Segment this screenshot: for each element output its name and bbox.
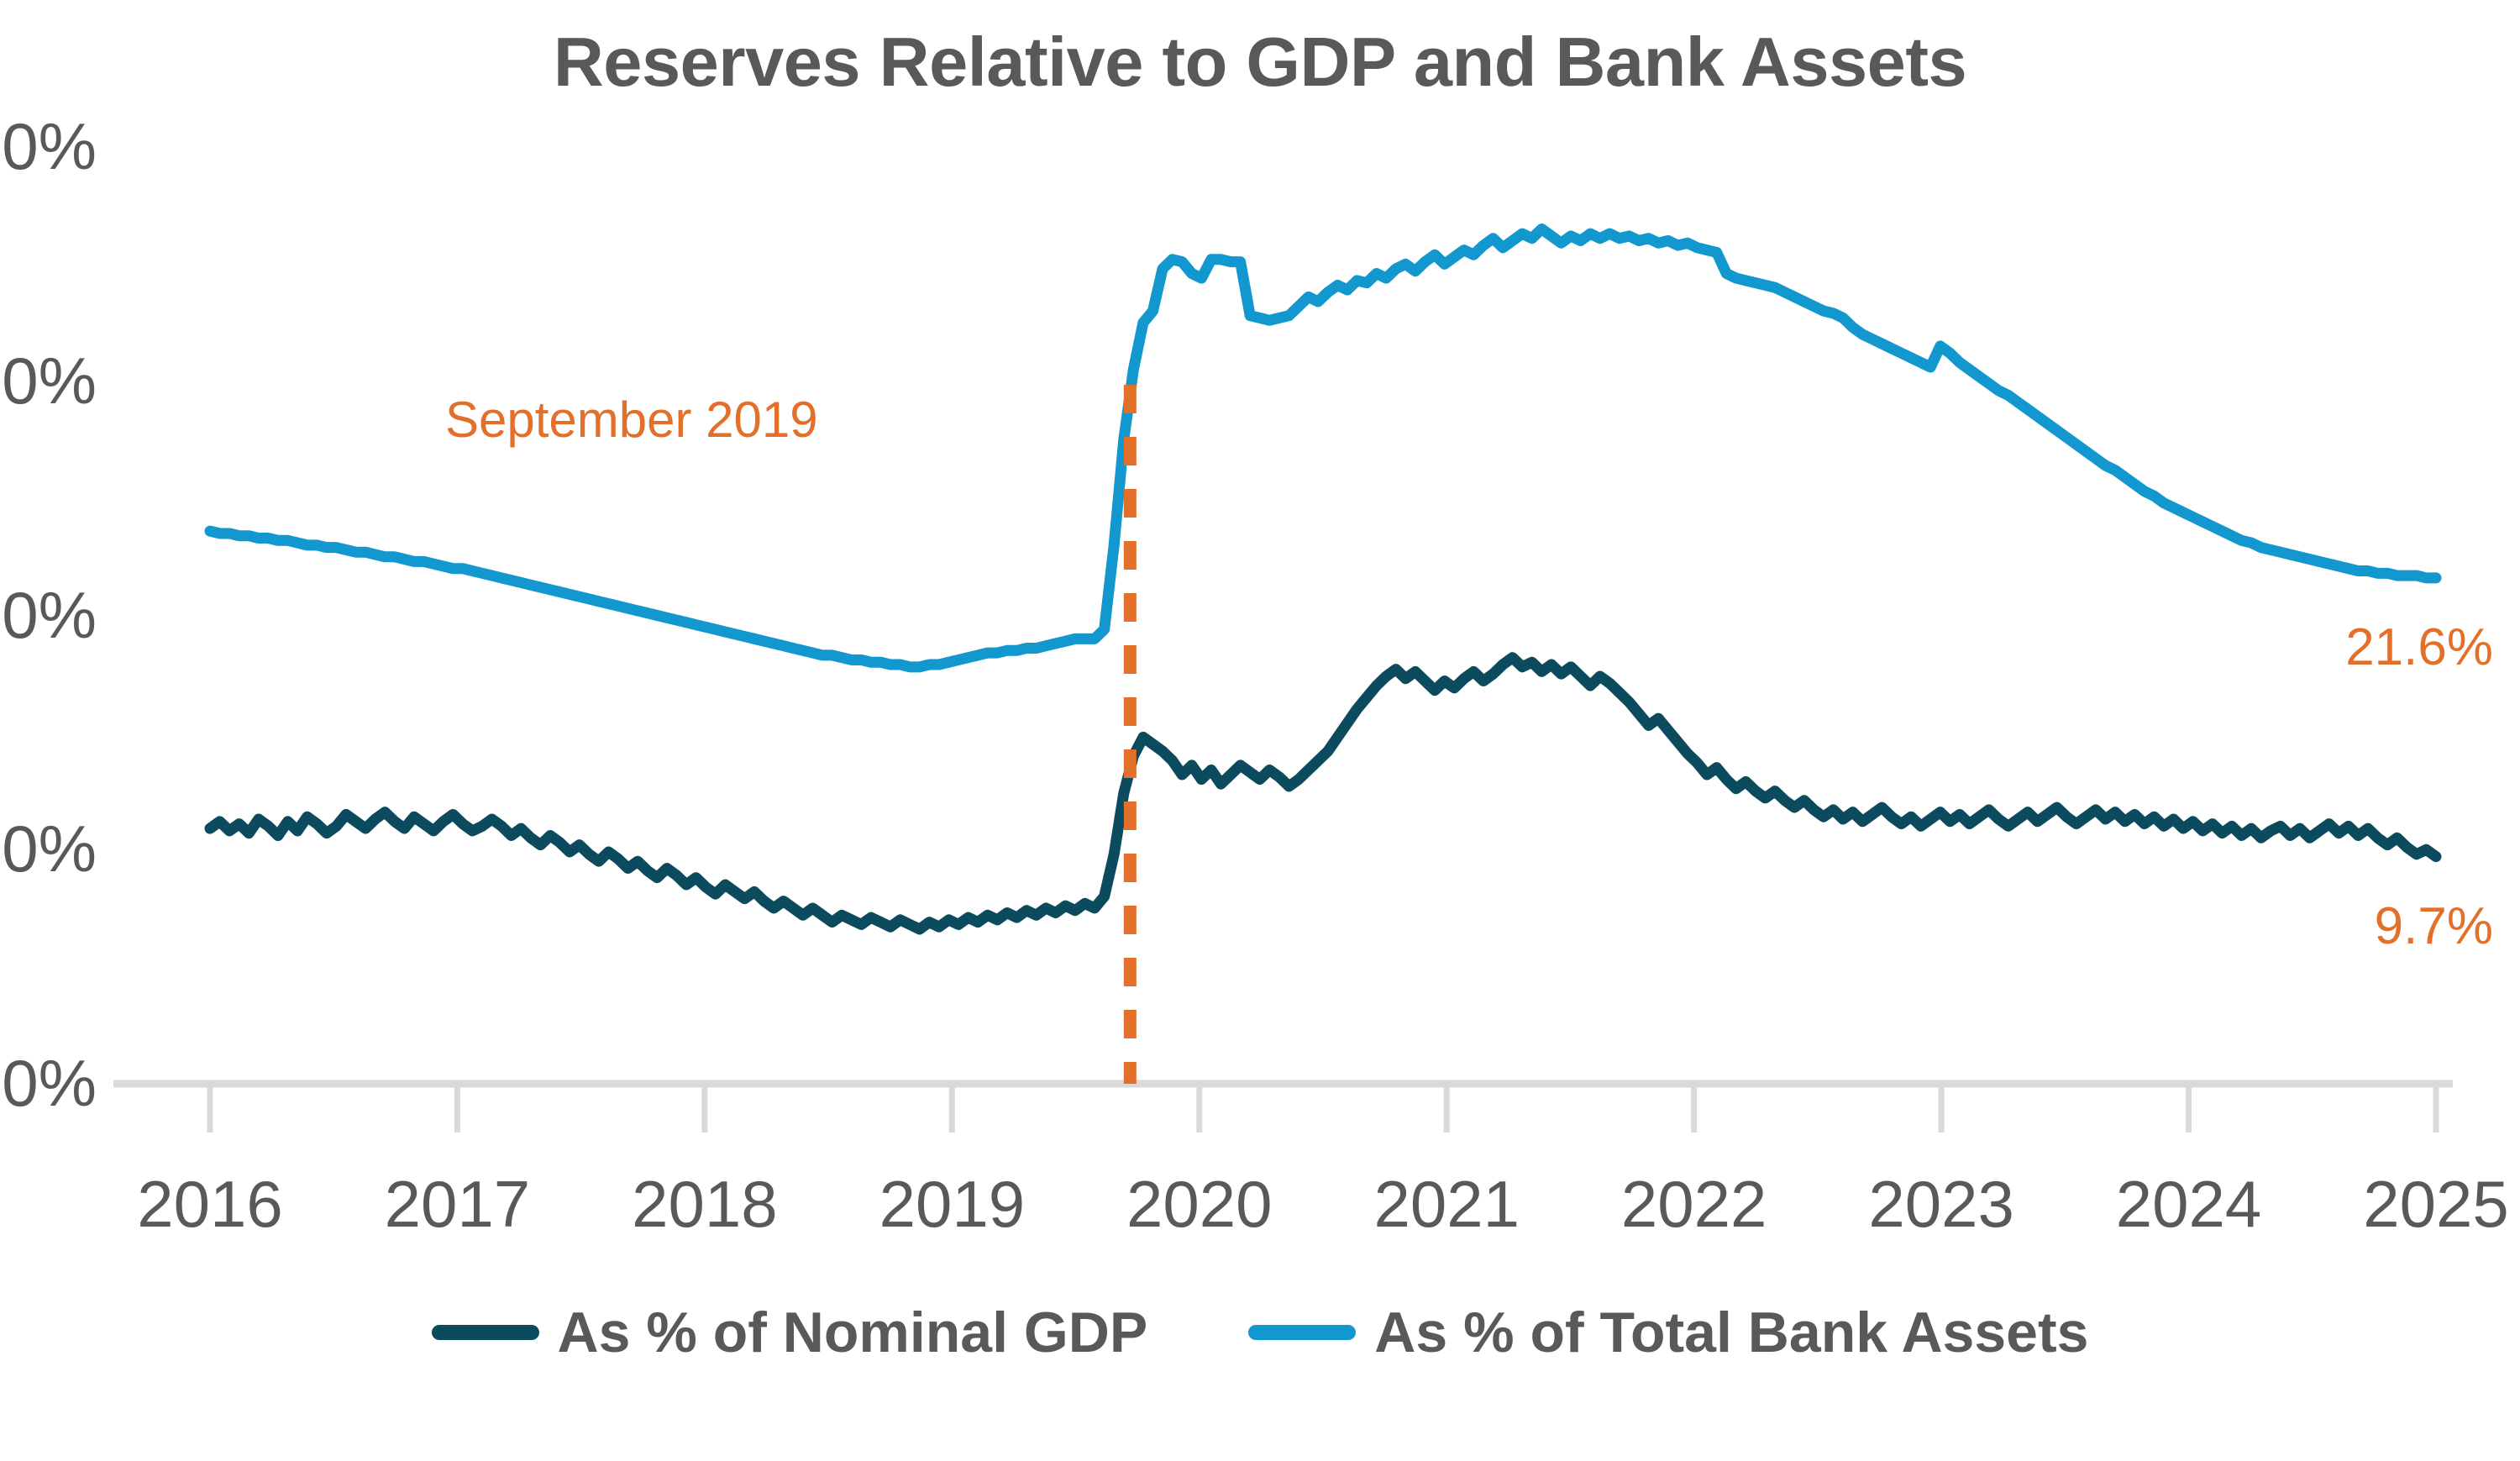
x-tick-label-2016: 2016	[84, 1171, 336, 1237]
y-tick-label-30: 30%	[0, 348, 97, 413]
plot-area	[0, 0, 2520, 1461]
series-line-1	[210, 229, 2436, 667]
x-tick-label-2025: 2025	[2310, 1171, 2520, 1237]
y-tick-label-20: 20%	[0, 582, 97, 648]
x-tick-label-2022: 2022	[1568, 1171, 1820, 1237]
x-tick-label-2017: 2017	[331, 1171, 583, 1237]
legend-item-nominal-gdp[interactable]: As % of Nominal GDP	[432, 1304, 1148, 1361]
legend-label-nominal-gdp: As % of Nominal GDP	[558, 1304, 1148, 1361]
nominal-gdp-end-value-label: 9.7%	[2375, 901, 2493, 953]
x-tick-label-2024: 2024	[2063, 1171, 2315, 1237]
y-tick-label-0: 0%	[2, 1050, 97, 1116]
legend-swatch-nominal-gdp	[432, 1325, 539, 1340]
y-tick-label-10: 10%	[0, 816, 97, 881]
bank-assets-end-value-label: 21.6%	[2345, 622, 2493, 674]
x-tick-label-2019: 2019	[826, 1171, 1078, 1237]
september-2019-annotation-label: September 2019	[445, 395, 818, 445]
x-tick-label-2021: 2021	[1320, 1171, 1572, 1237]
legend-swatch-bank-assets	[1248, 1325, 1356, 1340]
series-line-0	[210, 658, 2436, 929]
legend-label-bank-assets: As % of Total Bank Assets	[1374, 1304, 2088, 1361]
chart-legend: As % of Nominal GDP As % of Total Bank A…	[0, 1304, 2520, 1361]
y-tick-label-40: 40%	[0, 113, 97, 179]
x-tick-label-2018: 2018	[579, 1171, 831, 1237]
chart-container: Reserves Relative to GDP and Bank Assets…	[0, 0, 2520, 1461]
x-tick-label-2023: 2023	[1815, 1171, 2067, 1237]
legend-item-bank-assets[interactable]: As % of Total Bank Assets	[1248, 1304, 2088, 1361]
x-tick-label-2020: 2020	[1074, 1171, 1326, 1237]
